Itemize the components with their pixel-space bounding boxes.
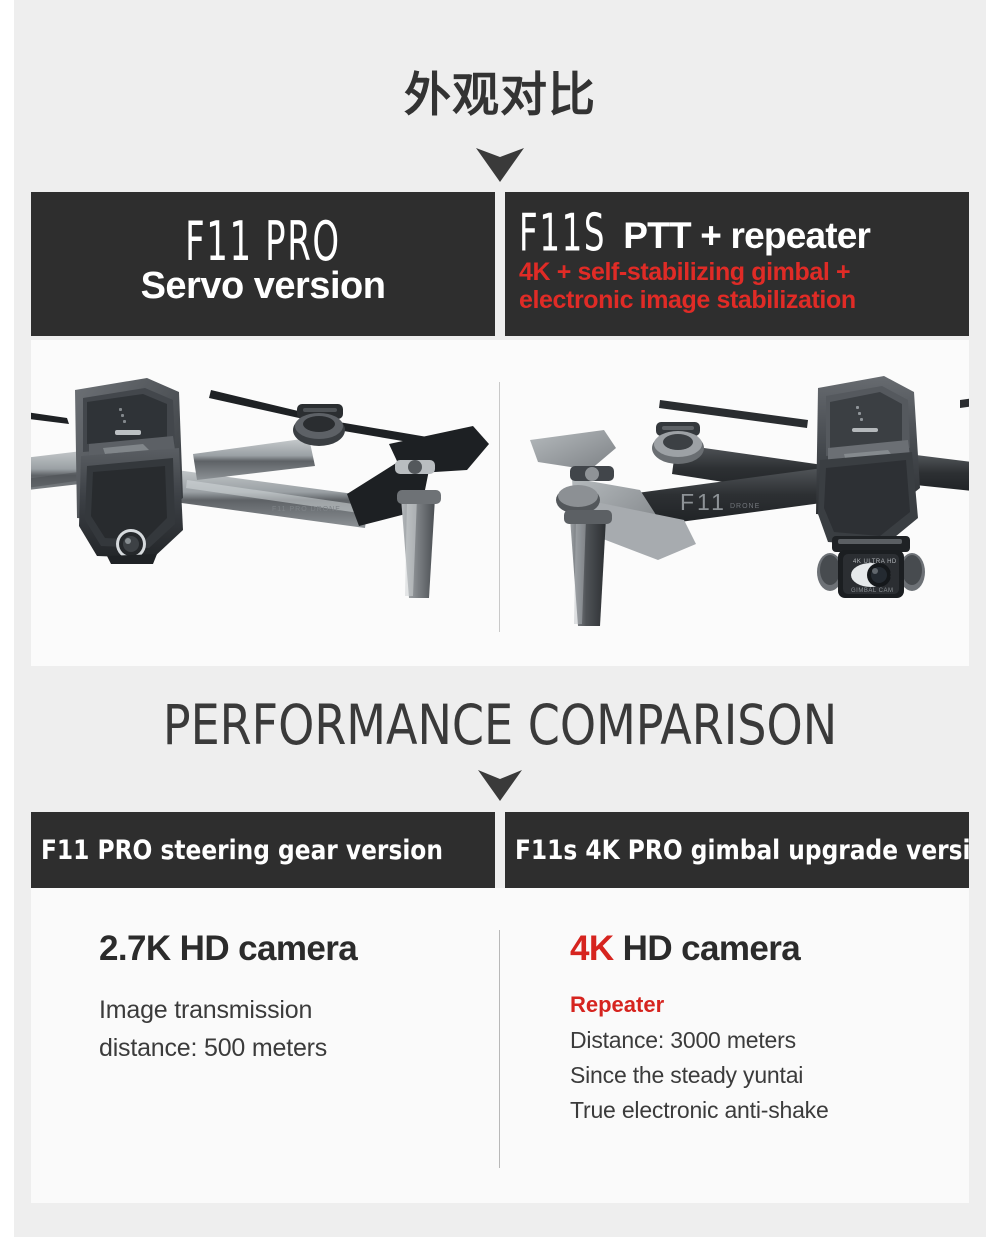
- camera-spec-left-value: 2.7K HD camera: [99, 929, 357, 968]
- camera-spec-right-value: HD camera: [623, 929, 800, 968]
- spec-header-right: F11s 4K PRO gimbal upgrade version: [505, 812, 969, 888]
- spec-header-row: F11 PRO steering gear version F11s 4K PR…: [31, 812, 969, 888]
- spec-detail-line: Distance: 3000 meters: [570, 1023, 945, 1058]
- appearance-header-left: F11 PRO Servo version: [31, 192, 495, 336]
- product-photo-f11s: F11 DRONE: [500, 340, 969, 666]
- highlight-line-2: electronic image stabilization: [519, 286, 856, 314]
- drone-illustration-f11pro: F11 PRO DRONE: [31, 348, 500, 658]
- repeater-label: Repeater: [570, 991, 945, 1020]
- spec-detail-line: True electronic anti-shake: [570, 1093, 945, 1128]
- spec-column-f11s: 4K HD camera Repeater Distance: 3000 met…: [498, 888, 969, 1203]
- spec-header-right-label: F11s 4K PRO gimbal upgrade version: [515, 835, 969, 866]
- chevron-down-icon: [474, 144, 526, 184]
- spec-detail-line: Since the steady yuntai: [570, 1058, 945, 1093]
- feature-label-ptt-repeater: PTT + repeater: [623, 217, 870, 254]
- model-feature-line: F11S PTT + repeater: [519, 212, 870, 255]
- product-photo-f11pro: F11 PRO DRONE: [31, 340, 500, 666]
- drone-illustration-f11s: F11 DRONE: [508, 348, 969, 658]
- spec-column-f11pro: 2.7K HD camera Image transmission distan…: [31, 888, 498, 1203]
- camera-spec-right-accent: 4K: [570, 929, 614, 968]
- spec-header-left: F11 PRO steering gear version: [31, 812, 495, 888]
- camera-spec-left: 2.7K HD camera: [99, 930, 474, 969]
- chevron-down-icon: [474, 764, 526, 804]
- camera-spec-right: 4K HD camera: [570, 930, 945, 969]
- model-name-f11pro: F11 PRO: [185, 215, 341, 268]
- spec-detail-line: distance: 500 meters: [99, 1029, 474, 1068]
- spec-body: 2.7K HD camera Image transmission distan…: [31, 888, 969, 1203]
- performance-section-title: PERFORMANCE COMPARISON: [35, 698, 965, 753]
- spec-header-left-label: F11 PRO steering gear version: [41, 835, 443, 866]
- page-title-chinese: 外观对比: [0, 72, 1000, 119]
- drone-arm-label: F11: [680, 489, 727, 515]
- appearance-header-row: F11 PRO Servo version F11S PTT + repeate…: [31, 192, 969, 336]
- spec-detail-line: Image transmission: [99, 991, 474, 1030]
- svg-text:F11 PRO DRONE: F11 PRO DRONE: [272, 506, 341, 513]
- infographic-page: 外观对比 F11 PRO Servo version F11S PTT + re…: [0, 0, 1000, 1237]
- appearance-header-right: F11S PTT + repeater 4K + self-stabilizin…: [505, 192, 969, 336]
- product-photo-row: F11 PRO DRONE: [31, 340, 969, 666]
- svg-text:DRONE: DRONE: [730, 503, 760, 510]
- model-name-f11s: F11S: [519, 209, 606, 260]
- svg-text:GIMBAL CAM: GIMBAL CAM: [851, 588, 893, 594]
